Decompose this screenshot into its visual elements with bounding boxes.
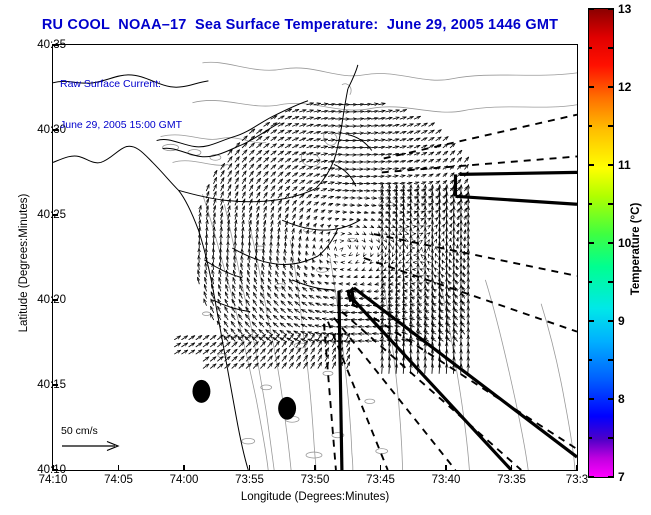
x-tick-label: 73:45 [366,474,395,486]
colorbar-tick-mark [588,164,594,165]
colorbar-tick-mark [608,8,614,9]
y-tick-mark [52,129,58,130]
colorbar-minor-tick [608,125,614,126]
colorbar-minor-tick [608,437,614,438]
colorbar-minor-tick [608,281,614,282]
current-vector-field [175,103,469,373]
colorbar-minor-tick [608,359,614,360]
colorbar-tick-mark [608,398,614,399]
colorbar-tick-label: 9 [618,314,625,328]
colorbar-tick-mark [608,476,614,477]
x-tick-label: 74:10 [39,474,68,486]
colorbar-minor-tick [588,281,592,282]
colorbar-tick-label: 7 [618,470,625,484]
x-tick-mark [380,465,381,471]
colorbar-tick-mark [588,476,594,477]
annotation-line-1: Raw Surface Current: [60,78,182,92]
colorbar-tick-label: 8 [618,392,625,406]
colorbar-tick-label: 11 [618,158,631,172]
colorbar-tick-mark [608,242,614,243]
x-tick-mark [52,465,53,471]
y-tick-mark [52,214,58,215]
annotation-text: Raw Surface Current: June 29, 2005 15:00… [60,51,182,159]
x-tick-mark [576,465,577,471]
x-tick-label: 73:40 [432,474,461,486]
page-title: RU COOL NOAA–17 Sea Surface Temperature:… [0,17,600,33]
colorbar-minor-tick [608,47,614,48]
x-tick-mark [118,465,119,471]
colorbar-minor-tick [588,437,592,438]
colorbar-tick-mark [608,320,614,321]
annotation-line-2: June 29, 2005 15:00 GMT [60,119,182,133]
colorbar-tick-mark [588,398,594,399]
scale-bar-label: 50 cm/s [61,425,123,437]
colorbar-minor-tick [588,125,592,126]
colorbar-tick-mark [588,86,594,87]
y-tick-mark [52,44,58,45]
x-tick-label: 74:05 [104,474,133,486]
x-tick-label: 73:55 [235,474,264,486]
x-tick-mark [183,465,184,471]
colorbar-tick-mark [608,164,614,165]
colorbar-tick-label: 13 [618,2,631,16]
station-marker-2 [278,397,296,420]
y-tick-mark [52,384,58,385]
radar-coverage-lines [324,115,577,470]
x-tick-label: 73:35 [497,474,526,486]
colorbar-title: Temperature (°C) [630,164,642,334]
scale-bar-arrow-icon [61,440,123,452]
colorbar-minor-tick [588,203,592,204]
y-axis-title: Latitude (Degrees:Minutes) [18,153,30,373]
x-tick-mark [511,465,512,471]
x-tick-label: 73:3 [566,474,588,486]
colorbar-tick-mark [588,242,594,243]
colorbar-tick-mark [608,86,614,87]
x-tick-label: 73:50 [301,474,330,486]
colorbar-tick-mark [588,320,594,321]
colorbar-tick-mark [588,8,594,9]
x-tick-mark [314,465,315,471]
x-tick-mark [249,465,250,471]
x-tick-mark [445,465,446,471]
x-axis-title: Longitude (Degrees:Minutes) [52,491,578,503]
station-marker-1 [192,380,210,403]
x-tick-label: 74:00 [170,474,199,486]
scale-bar: 50 cm/s [61,425,123,452]
colorbar-minor-tick [588,47,592,48]
y-tick-mark [52,299,58,300]
colorbar-tick-label: 12 [618,80,631,94]
map-plot-area[interactable]: Raw Surface Current: June 29, 2005 15:00… [52,44,578,471]
colorbar-minor-tick [608,203,614,204]
colorbar-minor-tick [588,359,592,360]
